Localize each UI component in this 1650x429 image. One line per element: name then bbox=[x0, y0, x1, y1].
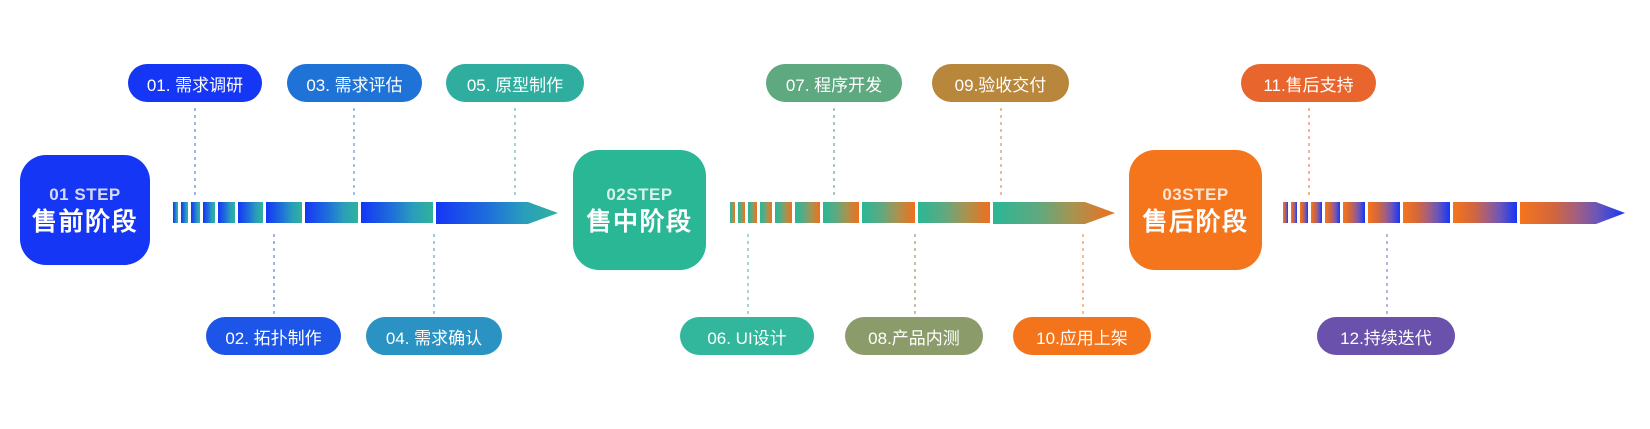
step-pill-01[interactable]: 01. 需求调研 bbox=[128, 64, 262, 102]
step-pill-12-label: 12.持续迭代 bbox=[1340, 324, 1432, 349]
connector-11 bbox=[1308, 108, 1310, 196]
stage-box-02[interactable]: 02STEP 售中阶段 bbox=[573, 150, 706, 270]
stage-box-03-step-no: 03STEP bbox=[1162, 186, 1228, 203]
step-pill-10[interactable]: 10.应用上架 bbox=[1013, 317, 1151, 355]
step-pill-07-label: 07. 程序开发 bbox=[786, 71, 882, 96]
step-pill-11-label: 11.售后支持 bbox=[1263, 71, 1353, 96]
arrow-3 bbox=[1283, 201, 1633, 223]
step-pill-03-label: 03. 需求评估 bbox=[306, 71, 402, 96]
stage-box-03[interactable]: 03STEP 售后阶段 bbox=[1129, 150, 1262, 270]
stage-box-01-step-no: 01 STEP bbox=[49, 186, 121, 203]
stage-box-03-title: 售后阶段 bbox=[1142, 210, 1248, 235]
step-pill-06[interactable]: 06. UI设计 bbox=[680, 317, 814, 355]
step-pill-11[interactable]: 11.售后支持 bbox=[1241, 64, 1376, 102]
connector-07 bbox=[833, 108, 835, 196]
stage-box-02-step-no: 02STEP bbox=[606, 186, 672, 203]
connector-12 bbox=[1386, 234, 1388, 322]
step-pill-04-label: 04. 需求确认 bbox=[386, 324, 482, 349]
process-timeline-diagram: 01 STEP 售前阶段 02STEP 售中阶段 03STEP 售后阶段 bbox=[0, 0, 1650, 429]
arrow-1 bbox=[173, 201, 563, 223]
stage-box-02-title: 售中阶段 bbox=[586, 210, 692, 235]
step-pill-05-label: 05. 原型制作 bbox=[467, 71, 563, 96]
connector-03 bbox=[353, 108, 355, 196]
step-pill-02[interactable]: 02. 拓扑制作 bbox=[206, 317, 341, 355]
connector-05 bbox=[514, 108, 516, 196]
step-pill-07[interactable]: 07. 程序开发 bbox=[766, 64, 902, 102]
stage-box-01[interactable]: 01 STEP 售前阶段 bbox=[20, 155, 150, 265]
stage-box-01-title: 售前阶段 bbox=[32, 210, 138, 235]
step-pill-05[interactable]: 05. 原型制作 bbox=[446, 64, 584, 102]
step-pill-02-label: 02. 拓扑制作 bbox=[225, 324, 321, 349]
connector-01 bbox=[194, 108, 196, 196]
step-pill-09[interactable]: 09.验收交付 bbox=[932, 64, 1069, 102]
connector-08 bbox=[914, 234, 916, 322]
step-pill-09-label: 09.验收交付 bbox=[955, 71, 1047, 96]
step-pill-06-label: 06. UI设计 bbox=[707, 324, 786, 349]
step-pill-12[interactable]: 12.持续迭代 bbox=[1317, 317, 1455, 355]
step-pill-01-label: 01. 需求调研 bbox=[147, 71, 243, 96]
step-pill-08-label: 08.产品内测 bbox=[868, 324, 960, 349]
connector-02 bbox=[273, 234, 275, 322]
connector-04 bbox=[433, 234, 435, 322]
connector-09 bbox=[1000, 108, 1002, 196]
step-pill-10-label: 10.应用上架 bbox=[1036, 324, 1128, 349]
step-pill-08[interactable]: 08.产品内测 bbox=[845, 317, 983, 355]
connector-06 bbox=[747, 234, 749, 322]
step-pill-04[interactable]: 04. 需求确认 bbox=[366, 317, 502, 355]
connector-10 bbox=[1082, 234, 1084, 322]
arrow-2 bbox=[730, 201, 1120, 223]
step-pill-03[interactable]: 03. 需求评估 bbox=[287, 64, 422, 102]
